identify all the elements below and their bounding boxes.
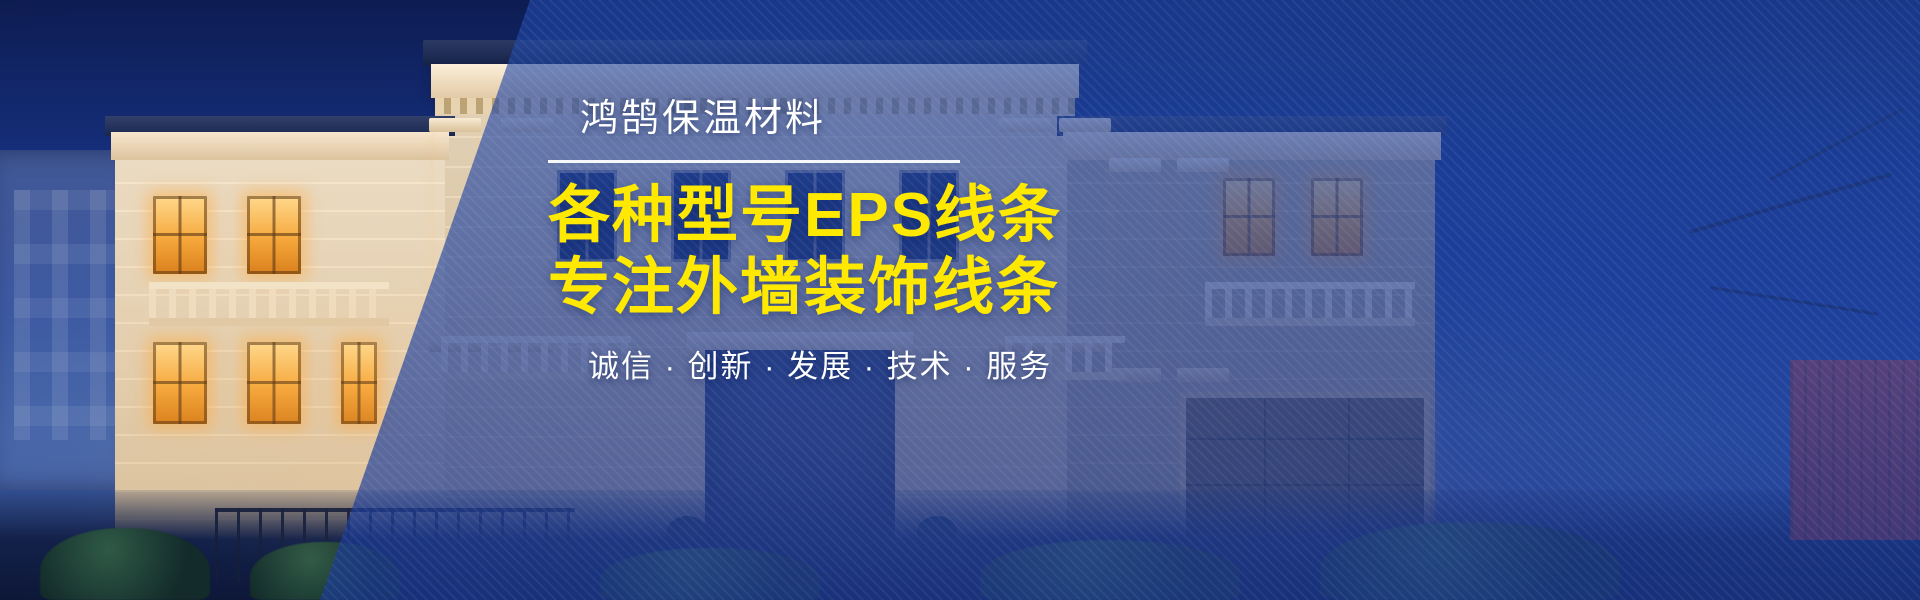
shrub <box>600 548 820 600</box>
villa-center-roof <box>423 40 1087 66</box>
lit-window <box>341 342 377 424</box>
headline-line-1: 各种型号EPS线条 <box>548 183 1248 249</box>
lit-window <box>247 342 301 424</box>
lit-window <box>153 342 207 424</box>
lit-window <box>1311 178 1363 256</box>
villa-left-cornice <box>111 132 449 160</box>
lit-window <box>153 196 207 274</box>
banner-copy: 鸿鹄保温材料 各种型号EPS线条 专注外墙装饰线条 诚信 · 创新 · 发展 ·… <box>548 92 1248 387</box>
column <box>507 130 547 340</box>
shrub <box>980 540 1240 600</box>
balustrade <box>149 282 389 326</box>
shrub <box>250 542 400 600</box>
headline-line-2: 专注外墙装饰线条 <box>548 255 1248 321</box>
red-container <box>1790 360 1920 540</box>
tagline: 诚信 · 创新 · 发展 · 技术 · 服务 <box>588 347 1248 387</box>
column <box>435 130 475 340</box>
lit-window <box>247 196 301 274</box>
copy-divider <box>548 160 960 163</box>
brand-name: 鸿鹄保温材料 <box>580 92 1248 146</box>
promo-banner: 鸿鹄保温材料 各种型号EPS线条 专注外墙装饰线条 诚信 · 创新 · 发展 ·… <box>0 0 1920 600</box>
